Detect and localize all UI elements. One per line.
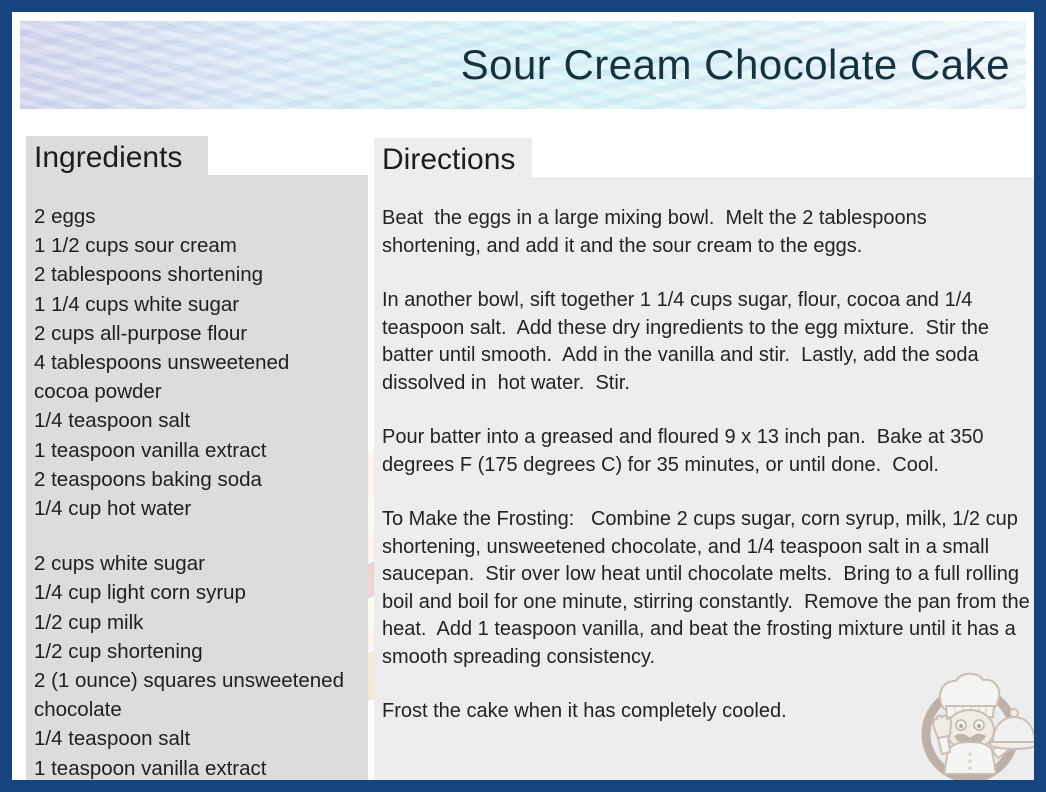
- direction-step: Frost the cake when it has completely co…: [382, 698, 1030, 726]
- list-item: 1 1/4 cups white sugar: [34, 290, 364, 319]
- header-banner: Sour Cream Chocolate Cake: [20, 21, 1026, 109]
- list-item: 1/4 cup hot water: [34, 494, 364, 523]
- list-item: chocolate: [34, 695, 364, 724]
- list-item: 1/4 cup light corn syrup: [34, 578, 364, 607]
- page-title: Sour Cream Chocolate Cake: [461, 41, 1010, 89]
- ingredients-heading: Ingredients: [34, 141, 182, 175]
- list-item: 1 teaspoon vanilla extract: [34, 754, 364, 783]
- direction-step: Beat the eggs in a large mixing bowl. Me…: [382, 205, 1030, 260]
- list-item: 1 teaspoon vanilla extract: [34, 436, 364, 465]
- list-item: 2 cups white sugar: [34, 549, 364, 578]
- list-item: 1/4 teaspoon salt: [34, 724, 364, 753]
- ingredients-group-separator: [34, 523, 364, 549]
- direction-step: Pour batter into a greased and floured 9…: [382, 424, 1030, 479]
- direction-step: To Make the Frosting: Combine 2 cups sug…: [382, 506, 1030, 671]
- list-item: 1 1/2 cups sour cream: [34, 231, 364, 260]
- recipe-card: Sour Cream Chocolate Cake: [0, 0, 1046, 792]
- list-item: 2 (1 ounce) squares unsweetened: [34, 666, 364, 695]
- list-item: 1/2 cup milk: [34, 608, 364, 637]
- list-item: 2 cups all-purpose flour: [34, 319, 364, 348]
- list-item: 2 teaspoons baking soda: [34, 465, 364, 494]
- directions-body: Beat the eggs in a large mixing bowl. Me…: [382, 205, 1030, 726]
- list-item: cocoa powder: [34, 377, 364, 406]
- ingredients-list: 2 eggs 1 1/2 cups sour cream 2 tablespoo…: [34, 202, 364, 783]
- list-item: 2 tablespoons shortening: [34, 260, 364, 289]
- list-item: 1/4 teaspoon salt: [34, 406, 364, 435]
- directions-heading: Directions: [382, 143, 515, 177]
- list-item: 4 tablespoons unsweetened: [34, 348, 364, 377]
- direction-step: In another bowl, sift together 1 1/4 cup…: [382, 287, 1030, 397]
- list-item: 1/2 cup shortening: [34, 637, 364, 666]
- list-item: 2 eggs: [34, 202, 364, 231]
